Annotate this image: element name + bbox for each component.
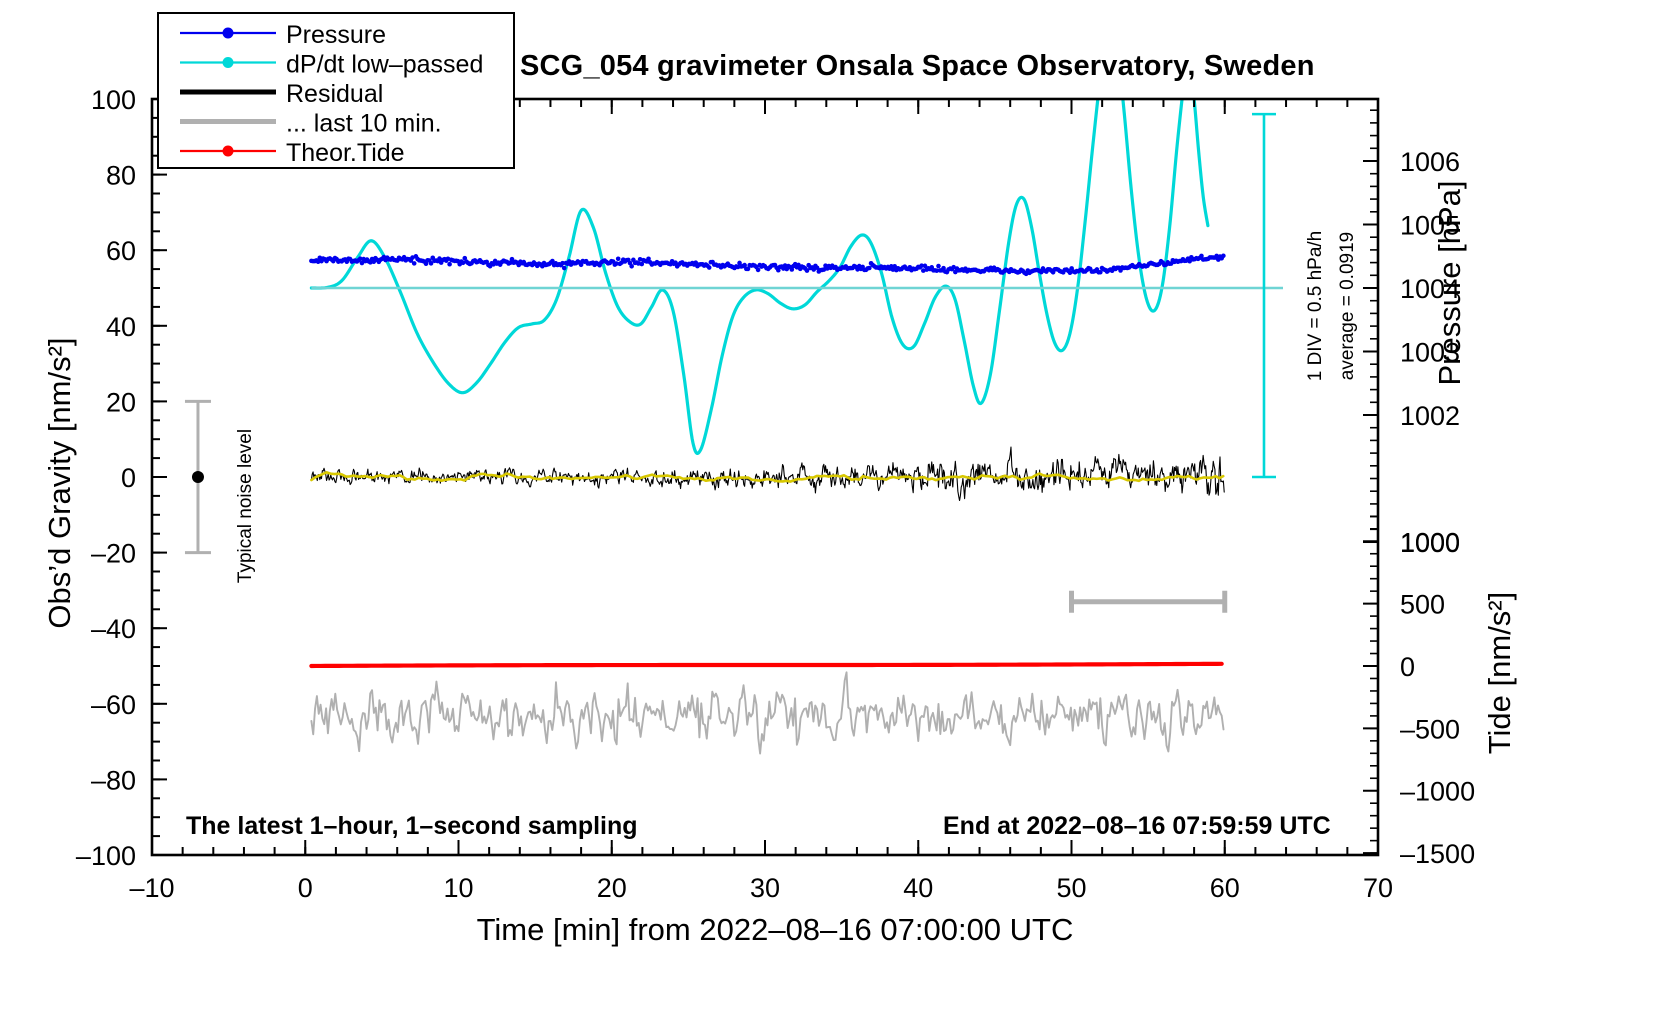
- legend-label-1[interactable]: dP/dt low–passed: [286, 51, 483, 79]
- x-tick-label: 0: [298, 873, 313, 903]
- series-theoretical-tide: [311, 664, 1221, 666]
- y-tick-label: 60: [106, 236, 136, 266]
- x-tick-label: 40: [903, 873, 933, 903]
- legend-label-0[interactable]: Pressure: [286, 21, 386, 49]
- chart-page: –10010203040506070–100–80–60–40–20020406…: [0, 0, 1660, 1020]
- legend-marker-0: [223, 28, 234, 39]
- legend-marker-4: [223, 146, 234, 157]
- pressure-tick-label: 1004: [1400, 274, 1460, 304]
- y-tick-label: 20: [106, 387, 136, 417]
- x-tick-label: –10: [129, 873, 174, 903]
- tide-tick-label: –1000: [1400, 777, 1475, 807]
- y-tick-label: –100: [76, 841, 136, 871]
- pressure-tick-label: 1005: [1400, 210, 1460, 240]
- tide-tick-label: 500: [1400, 590, 1445, 620]
- y-tick-label: 0: [121, 463, 136, 493]
- pressure-tick-label: 1006: [1400, 147, 1460, 177]
- series-pressure: [309, 254, 1226, 277]
- y-tick-label: 100: [91, 85, 136, 115]
- x-tick-label: 50: [1056, 873, 1086, 903]
- y-tick-label: –60: [91, 690, 136, 720]
- y-tick-label: –20: [91, 539, 136, 569]
- tide-tick-label: –1500: [1400, 839, 1475, 869]
- series-residual: [311, 447, 1224, 500]
- y-tick-label: –80: [91, 765, 136, 795]
- y-tick-label: –40: [91, 614, 136, 644]
- x-tick-label: 20: [597, 873, 627, 903]
- legend-label-3[interactable]: ... last 10 min.: [286, 110, 442, 138]
- legend-label-4[interactable]: Theor.Tide: [286, 139, 405, 167]
- x-tick-label: 30: [750, 873, 780, 903]
- tide-tick-label: 0: [1400, 652, 1415, 682]
- y-tick-label: 80: [106, 161, 136, 191]
- x-tick-label: 70: [1363, 873, 1393, 903]
- pressure-tick-label: 1003: [1400, 338, 1460, 368]
- noise-bar-center-dot: [192, 471, 204, 483]
- x-tick-label: 10: [443, 873, 473, 903]
- x-tick-label: 60: [1210, 873, 1240, 903]
- y-tick-label: 40: [106, 312, 136, 342]
- gravimeter-chart: –10010203040506070–100–80–60–40–20020406…: [0, 0, 1660, 1020]
- tide-tick-label: –500: [1400, 714, 1460, 744]
- legend-label-2[interactable]: Residual: [286, 80, 383, 108]
- tide-tick-label: 1000: [1400, 527, 1460, 557]
- series-last-10-min: [311, 672, 1223, 753]
- pressure-tick-label: 1002: [1400, 401, 1460, 431]
- legend-marker-1: [223, 57, 234, 68]
